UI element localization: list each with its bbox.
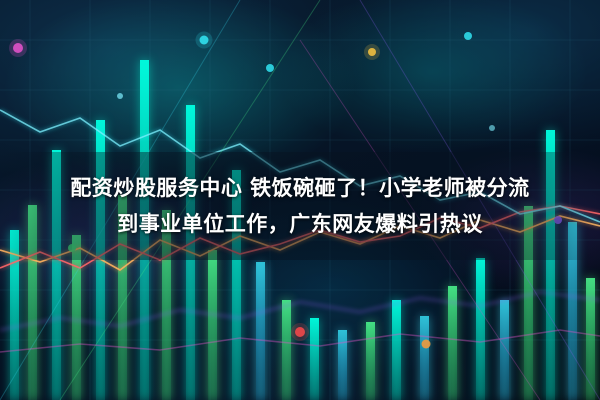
image-canvas: 配资炒股服务中心 铁饭碗砸了！小学老师被分流 到事业单位工作，广东网友爆料引热议 bbox=[0, 0, 600, 400]
headline-line-2: 到事业单位工作，广东网友爆料引热议 bbox=[117, 206, 483, 242]
headline-line-1: 配资炒股服务中心 铁饭碗砸了！小学老师被分流 bbox=[70, 170, 529, 206]
headline-overlay: 配资炒股服务中心 铁饭碗砸了！小学老师被分流 到事业单位工作，广东网友爆料引热议 bbox=[0, 152, 600, 260]
